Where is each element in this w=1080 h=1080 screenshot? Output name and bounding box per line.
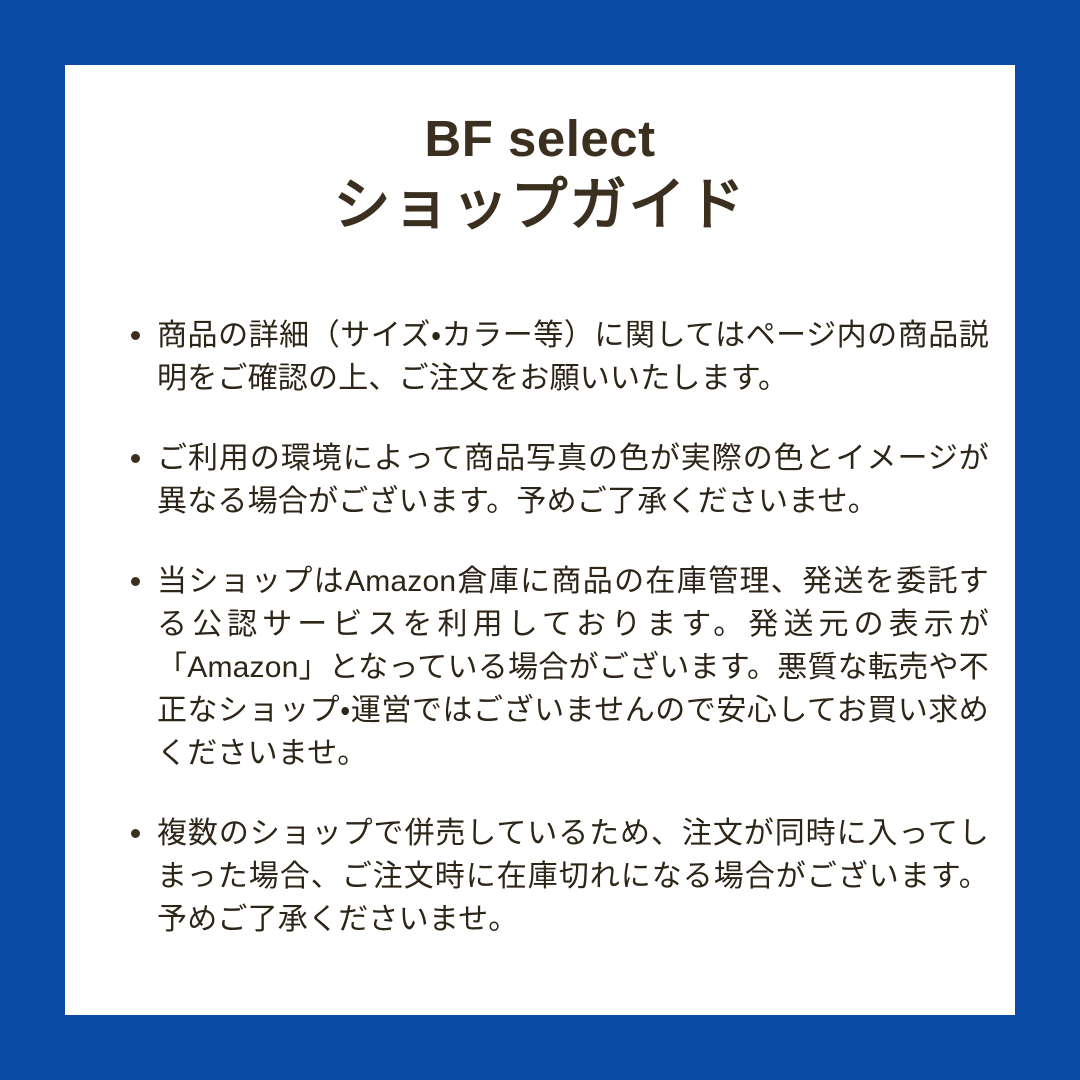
title-line-brand: BF select — [65, 110, 1015, 169]
list-item-text: ご利用の環境によって商品写真の色が実際の色とイメージが異なる場合がございます。予… — [157, 437, 989, 523]
list-item: ご利用の環境によって商品写真の色が実際の色とイメージが異なる場合がございます。予… — [131, 437, 989, 523]
shop-guide-notes-list: 商品の詳細（サイズ・カラー等）に関してはページ内の商品説明をご確認の上、ご注文を… — [65, 314, 1015, 941]
list-item: 商品の詳細（サイズ・カラー等）に関してはページ内の商品説明をご確認の上、ご注文を… — [131, 314, 989, 400]
list-item-text: 当ショップはAmazon倉庫に商品の在庫管理、発送を委託する公認サービスを利用し… — [157, 560, 989, 775]
bullet-dot-icon — [131, 454, 140, 463]
list-item: 当ショップはAmazon倉庫に商品の在庫管理、発送を委託する公認サービスを利用し… — [131, 560, 989, 775]
list-item-text: 複数のショップで併売しているため、注文が同時に入ってしまった場合、ご注文時に在庫… — [157, 812, 989, 941]
page-frame: BF select ショップガイド 商品の詳細（サイズ・カラー等）に関してはペー… — [0, 0, 1080, 1080]
title-line-subtitle: ショップガイド — [65, 169, 1015, 242]
bullet-dot-icon — [131, 829, 140, 838]
page-title: BF select ショップガイド — [65, 65, 1015, 242]
list-item: 複数のショップで併売しているため、注文が同時に入ってしまった場合、ご注文時に在庫… — [131, 812, 989, 941]
bullet-dot-icon — [131, 577, 140, 586]
bullet-dot-icon — [131, 331, 140, 340]
guide-card: BF select ショップガイド 商品の詳細（サイズ・カラー等）に関してはペー… — [65, 65, 1015, 1015]
list-item-text: 商品の詳細（サイズ・カラー等）に関してはページ内の商品説明をご確認の上、ご注文を… — [157, 314, 989, 400]
